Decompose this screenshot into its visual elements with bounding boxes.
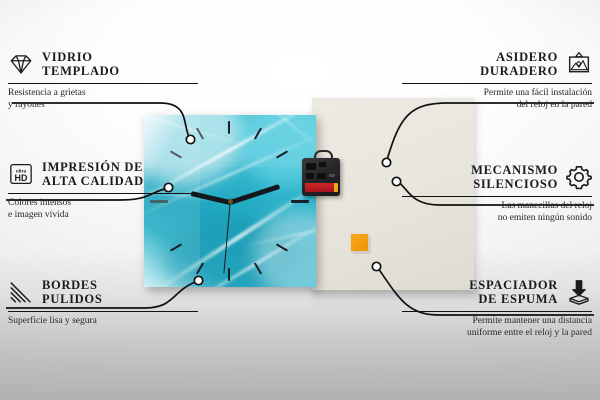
feature-divider bbox=[402, 83, 592, 84]
feature-bordes-pulidos: BORDES PULIDOS Superficie lisa y segura bbox=[8, 278, 198, 328]
infographic-canvas: VIDRIO TEMPLADO Resistencia a grietas y … bbox=[0, 0, 600, 400]
feature-title: ESPACIADOR DE ESPUMA bbox=[469, 278, 558, 306]
feature-heading: MECANISMO SILENCIOSO bbox=[402, 163, 592, 191]
feature-mecanismo-silencioso: MECANISMO SILENCIOSO Las manecillas del … bbox=[402, 163, 592, 224]
feature-description: Permite mantener una distancia uniforme … bbox=[402, 316, 592, 339]
feature-divider bbox=[8, 311, 198, 312]
clock-tick bbox=[228, 268, 230, 281]
clock-tick bbox=[291, 200, 309, 203]
arrow-down-pad-icon bbox=[566, 279, 592, 305]
feature-description: Permite una fácil instalación del reloj … bbox=[402, 88, 592, 111]
feature-vidrio-templado: VIDRIO TEMPLADO Resistencia a grietas y … bbox=[8, 50, 198, 111]
diamond-icon bbox=[8, 51, 34, 77]
feature-divider bbox=[8, 193, 198, 194]
feature-heading: ASIDERO DURADERO bbox=[402, 50, 592, 78]
mechanism-detail bbox=[319, 162, 326, 167]
feature-title: BORDES PULIDOS bbox=[42, 278, 102, 306]
feature-asidero-duradero: ASIDERO DURADERO Permite una fácil insta… bbox=[402, 50, 592, 111]
feature-heading: BORDES PULIDOS bbox=[8, 278, 198, 306]
feature-description: Superficie lisa y segura bbox=[8, 316, 198, 328]
feature-title: ASIDERO DURADERO bbox=[480, 50, 558, 78]
feature-title: IMPRESIÓN DE ALTA CALIDAD bbox=[42, 160, 144, 188]
feature-title: VIDRIO TEMPLADO bbox=[42, 50, 120, 78]
polished-edges-icon bbox=[8, 279, 34, 305]
picture-frame-hanger-icon bbox=[566, 51, 592, 77]
clock-tick bbox=[228, 121, 230, 134]
mechanism-battery bbox=[305, 183, 336, 192]
feature-heading: ESPACIADOR DE ESPUMA bbox=[402, 278, 592, 306]
feature-heading: ultra HD IMPRESIÓN DE ALTA CALIDAD bbox=[8, 160, 198, 188]
clock-minute-hand bbox=[229, 184, 280, 205]
gear-icon bbox=[566, 164, 592, 190]
mechanism-detail bbox=[329, 174, 335, 177]
foam-spacer bbox=[351, 234, 368, 251]
clock-center-pin bbox=[228, 199, 233, 204]
feature-title: MECANISMO SILENCIOSO bbox=[471, 163, 558, 191]
mechanism-detail bbox=[306, 173, 314, 179]
feature-heading: VIDRIO TEMPLADO bbox=[8, 50, 198, 78]
ultra-hd-icon: ultra HD bbox=[8, 161, 34, 187]
feature-description: Colores intensos e imagen vívida bbox=[8, 198, 198, 221]
feature-impresion-alta-calidad: ultra HD IMPRESIÓN DE ALTA CALIDAD Color… bbox=[8, 160, 198, 221]
feature-divider bbox=[8, 83, 198, 84]
feature-description: Resistencia a grietas y rayones bbox=[8, 88, 198, 111]
mechanism-detail bbox=[317, 173, 326, 179]
feature-espaciador-de-espuma: ESPACIADOR DE ESPUMA Permite mantener un… bbox=[402, 278, 592, 339]
feature-divider bbox=[402, 311, 592, 312]
feature-description: Las manecillas del reloj no emiten ningú… bbox=[402, 201, 592, 224]
feature-divider bbox=[402, 196, 592, 197]
mechanism-detail bbox=[306, 163, 316, 170]
battery-terminal bbox=[334, 183, 338, 192]
svg-text:HD: HD bbox=[15, 173, 28, 183]
